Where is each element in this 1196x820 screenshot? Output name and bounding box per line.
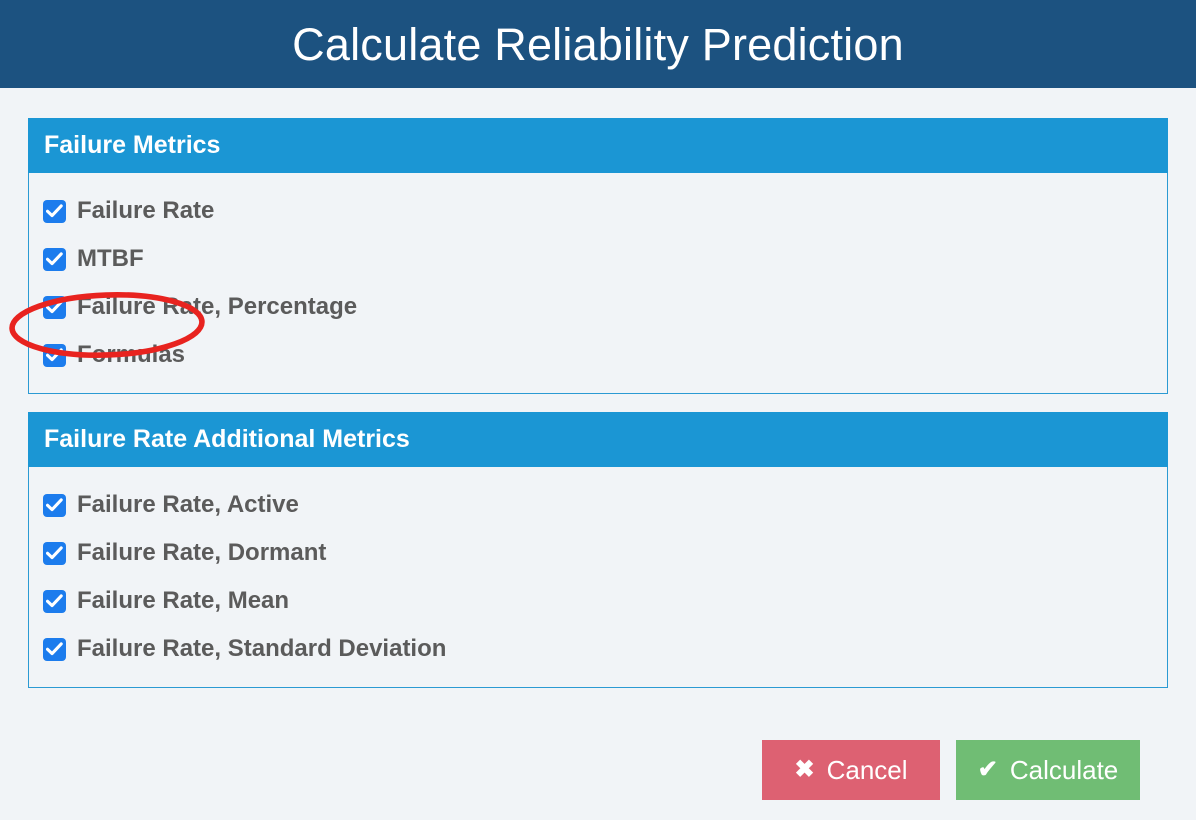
panel-body-failure-metrics: Failure Rate MTBF Failure Rate, Percenta… xyxy=(28,173,1168,394)
checkbox-row-failure-rate-percentage[interactable]: Failure Rate, Percentage xyxy=(43,283,1151,331)
app-header: Calculate Reliability Prediction xyxy=(0,0,1196,88)
close-x-icon: ✖ xyxy=(794,758,814,782)
calculate-button-label: Calculate xyxy=(1010,757,1118,783)
checkbox-row-failure-rate-active[interactable]: Failure Rate, Active xyxy=(43,481,1151,529)
checkbox-label: Failure Rate, Mean xyxy=(77,589,289,613)
panel-failure-metrics: Failure Metrics Failure Rate MTBF Failur… xyxy=(28,118,1168,394)
footer-actions: ✖ Cancel ✔ Calculate xyxy=(28,706,1168,800)
checkbox-row-failure-rate-mean[interactable]: Failure Rate, Mean xyxy=(43,577,1151,625)
checkmark-icon: ✔ xyxy=(978,758,998,782)
checkbox-label: Failure Rate, Percentage xyxy=(77,295,357,319)
checkbox-label: Failure Rate, Active xyxy=(77,493,299,517)
checkbox-label: Failure Rate, Standard Deviation xyxy=(77,637,446,661)
cancel-button-label: Cancel xyxy=(827,757,908,783)
checkbox-label: Formulas xyxy=(77,343,185,367)
checkbox-row-failure-rate[interactable]: Failure Rate xyxy=(43,187,1151,235)
dialog-body: Failure Metrics Failure Rate MTBF Failur… xyxy=(0,88,1196,800)
checkbox-label: Failure Rate xyxy=(77,199,214,223)
panel-failure-rate-additional-metrics: Failure Rate Additional Metrics Failure … xyxy=(28,412,1168,688)
checkbox-row-formulas[interactable]: Formulas xyxy=(43,331,1151,379)
checkbox-checked-icon[interactable] xyxy=(43,590,66,613)
checkbox-row-failure-rate-dormant[interactable]: Failure Rate, Dormant xyxy=(43,529,1151,577)
checkbox-checked-icon[interactable] xyxy=(43,200,66,223)
checkbox-label: MTBF xyxy=(77,247,144,271)
checkbox-checked-icon[interactable] xyxy=(43,494,66,517)
checkbox-row-failure-rate-standard-deviation[interactable]: Failure Rate, Standard Deviation xyxy=(43,625,1151,673)
panel-header-failure-rate-additional-metrics: Failure Rate Additional Metrics xyxy=(28,412,1168,467)
cancel-button[interactable]: ✖ Cancel xyxy=(762,740,940,800)
checkbox-checked-icon[interactable] xyxy=(43,542,66,565)
checkbox-checked-icon[interactable] xyxy=(43,296,66,319)
checkbox-row-mtbf[interactable]: MTBF xyxy=(43,235,1151,283)
checkbox-checked-icon[interactable] xyxy=(43,638,66,661)
panel-header-failure-metrics: Failure Metrics xyxy=(28,118,1168,173)
checkbox-checked-icon[interactable] xyxy=(43,344,66,367)
checkbox-label: Failure Rate, Dormant xyxy=(77,541,326,565)
page-title: Calculate Reliability Prediction xyxy=(292,22,904,67)
panel-body-failure-rate-additional-metrics: Failure Rate, Active Failure Rate, Dorma… xyxy=(28,467,1168,688)
calculate-button[interactable]: ✔ Calculate xyxy=(956,740,1140,800)
checkbox-checked-icon[interactable] xyxy=(43,248,66,271)
